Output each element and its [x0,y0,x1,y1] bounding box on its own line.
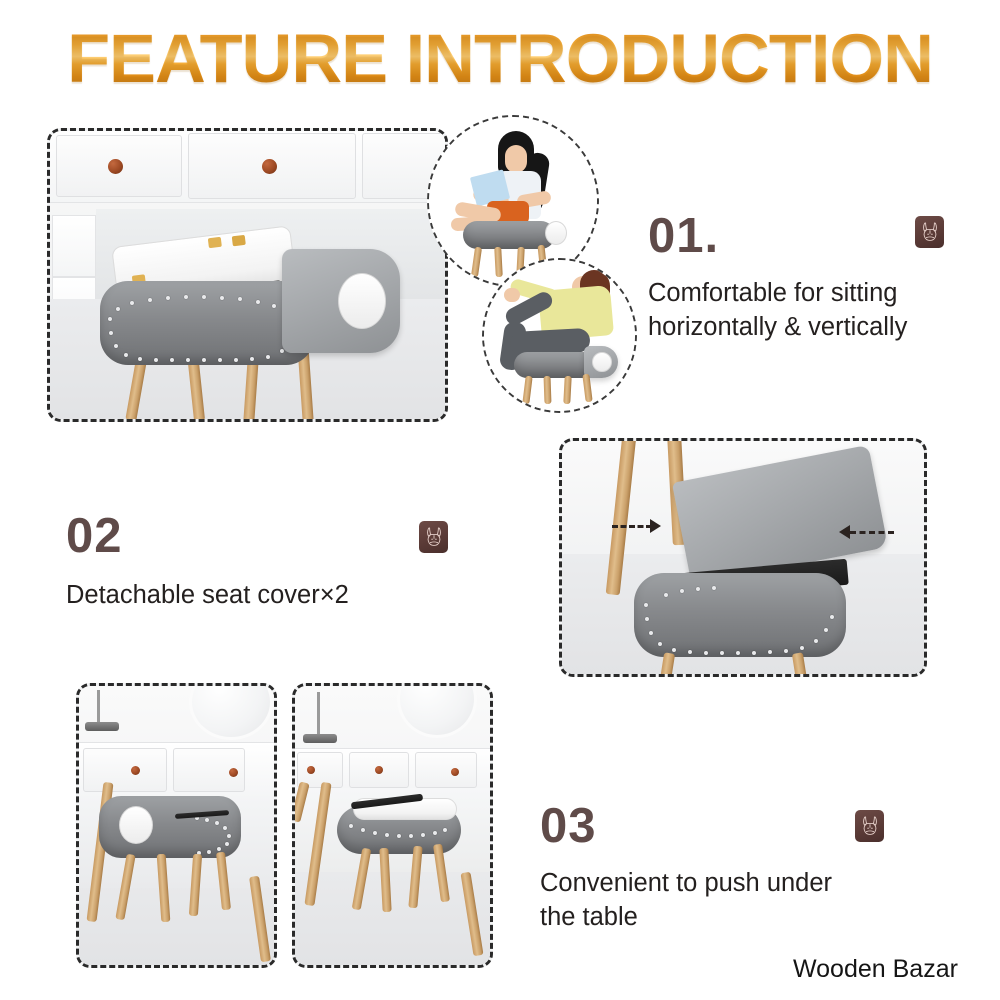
stool-leg-2 [544,376,552,404]
watermark: Wooden Bazar [793,955,958,984]
stool-base [634,573,846,657]
feature-description-02: Detachable seat cover×2 [66,579,349,613]
stool-handle [119,806,153,844]
drawer-left [83,748,167,792]
lamp-pole [317,692,320,736]
stool-handle [592,352,612,372]
rabbit-face-icon [424,526,444,549]
lamp-pole [97,690,100,724]
feature-description-03: Convenient to push under the table [540,867,832,935]
feature-introduction-page: FEATURE INTRODUCTION [0,0,1000,1000]
lamp-head [303,734,337,743]
stool-pushed-under-table-photo [76,683,277,968]
feature-block-03: 03 Convenient to push under the table [540,802,832,935]
scene-stool-front [295,686,490,965]
feature-description-01: Comfortable for sitting horizontally & v… [648,277,907,345]
stool-leg-3 [563,376,571,404]
feature-number-01: 01. [648,212,907,261]
drawer-knob-center [229,768,238,777]
drawer-knob-center [375,766,383,774]
drawer-right [415,752,477,788]
cabinet-panel-1 [52,215,96,277]
drawer-knob-right [451,768,459,776]
page-title: FEATURE INTRODUCTION [0,24,1000,93]
scene-vanity-closeup [50,131,445,419]
stool-in-front-of-vanity-photo [292,683,493,968]
rabbit-face-icon-badge-02 [419,521,448,553]
scene-person-reclined [484,260,635,411]
stool-handle [338,273,386,329]
drawer-knob-left [307,766,315,774]
hand [504,288,520,302]
rabbit-face-icon-badge-01 [915,216,944,248]
rabbit-face-icon [860,815,880,838]
lamp-head [85,722,119,731]
scene-pushed-under [79,686,274,965]
detachable-seat-cover-photo [559,438,927,677]
feature-block-02: 02 Detachable seat cover×2 [66,512,349,613]
scene-cover-removal [562,441,924,674]
stool-handle [545,221,567,245]
drawer-knob-center [262,159,277,174]
rabbit-face-icon [920,221,940,244]
feature-number-03: 03 [540,802,832,851]
stud-trim [634,573,846,657]
rabbit-face-icon-badge-03 [855,810,884,842]
face [505,145,527,173]
person-sitting-vertically-inset [482,258,637,413]
drawer-knob-left [131,766,140,775]
drawer-knob-left [108,159,123,174]
feature-block-01: 01. Comfortable for sitting horizontally… [648,212,907,345]
feature-number-02: 02 [66,512,349,561]
stool-under-vanity-photo [47,128,448,422]
